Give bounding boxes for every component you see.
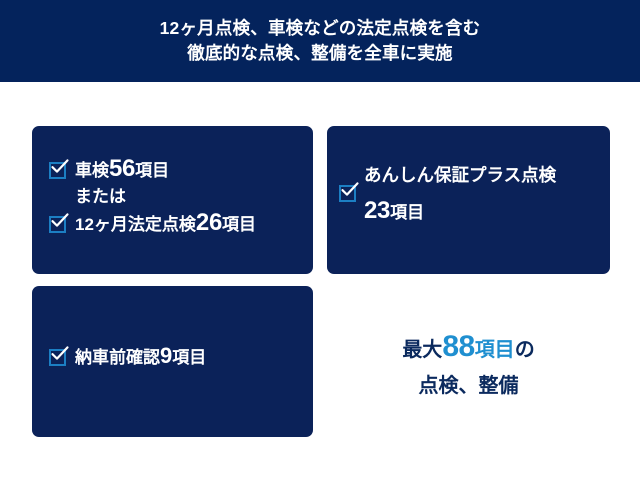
summary-number: 88 bbox=[442, 330, 474, 363]
summary-suffix: の bbox=[515, 339, 535, 361]
promo-page: 12ヶ月点検、車検などの法定点検を含む 徹底的な点検、整備を全車に実施 車検56… bbox=[0, 0, 640, 480]
summary-line-2: 点検、整備 bbox=[327, 369, 610, 403]
inspection-12month-number: 26 bbox=[196, 209, 222, 236]
inspection-row-12month-text: 12ヶ月法定点検26項目 bbox=[75, 210, 256, 238]
predelivery-label: 納車前確認 bbox=[75, 348, 160, 367]
checkbox-checked-icon bbox=[49, 349, 66, 366]
inspection-12month-unit: 項目 bbox=[222, 215, 256, 234]
header-line-2: 徹底的な点検、整備を全車に実施 bbox=[187, 41, 453, 66]
summary-line-1: 最大88項目の bbox=[327, 330, 610, 369]
summary-total: 最大88項目の 点検、整備 bbox=[327, 330, 610, 403]
card-warranty-plus-inspection: あんしん保証プラス点検 23項目 bbox=[327, 126, 610, 274]
predelivery-row-text: 納車前確認9項目 bbox=[75, 343, 206, 371]
predelivery-unit: 項目 bbox=[172, 348, 206, 367]
inspection-row-shaken-text: 車検56項目 bbox=[75, 156, 169, 184]
card-predelivery-check: 納車前確認9項目 bbox=[32, 286, 313, 437]
checkbox-checked-icon bbox=[339, 185, 356, 202]
card-predelivery-check-content: 納車前確認9項目 bbox=[49, 343, 313, 371]
inspection-row-divider: または bbox=[49, 184, 313, 210]
warranty-number: 23 bbox=[364, 197, 390, 224]
card-warranty-plus-inspection-content: あんしん保証プラス点検 23項目 bbox=[339, 156, 600, 230]
checkbox-checked-icon bbox=[49, 162, 66, 179]
card-statutory-inspection-content: 車検56項目 または 12ヶ月法定点検26項目 bbox=[49, 156, 313, 238]
warranty-line-1: あんしん保証プラス点検 bbox=[364, 156, 556, 194]
header-banner: 12ヶ月点検、車検などの法定点検を含む 徹底的な点検、整備を全車に実施 bbox=[0, 0, 640, 82]
checkbox-checked-icon bbox=[49, 216, 66, 233]
card-statutory-inspection: 車検56項目 または 12ヶ月法定点検26項目 bbox=[32, 126, 313, 274]
summary-prefix: 最大 bbox=[402, 339, 442, 361]
header-line-1: 12ヶ月点検、車検などの法定点検を含む bbox=[160, 16, 481, 41]
warranty-unit: 項目 bbox=[390, 203, 424, 222]
inspection-shaken-number: 56 bbox=[109, 155, 135, 182]
warranty-text-block: あんしん保証プラス点検 23項目 bbox=[364, 156, 556, 230]
warranty-line-2: 23項目 bbox=[364, 194, 556, 230]
inspection-12month-label: 12ヶ月法定点検 bbox=[75, 215, 196, 234]
predelivery-row: 納車前確認9項目 bbox=[49, 343, 313, 371]
predelivery-number: 9 bbox=[160, 343, 172, 368]
summary-unit: 項目 bbox=[475, 339, 515, 361]
inspection-divider-label: または bbox=[75, 184, 126, 210]
inspection-shaken-label: 車検 bbox=[75, 161, 109, 180]
inspection-row-shaken: 車検56項目 bbox=[49, 156, 313, 184]
inspection-shaken-unit: 項目 bbox=[135, 161, 169, 180]
inspection-row-12month: 12ヶ月法定点検26項目 bbox=[49, 210, 313, 238]
